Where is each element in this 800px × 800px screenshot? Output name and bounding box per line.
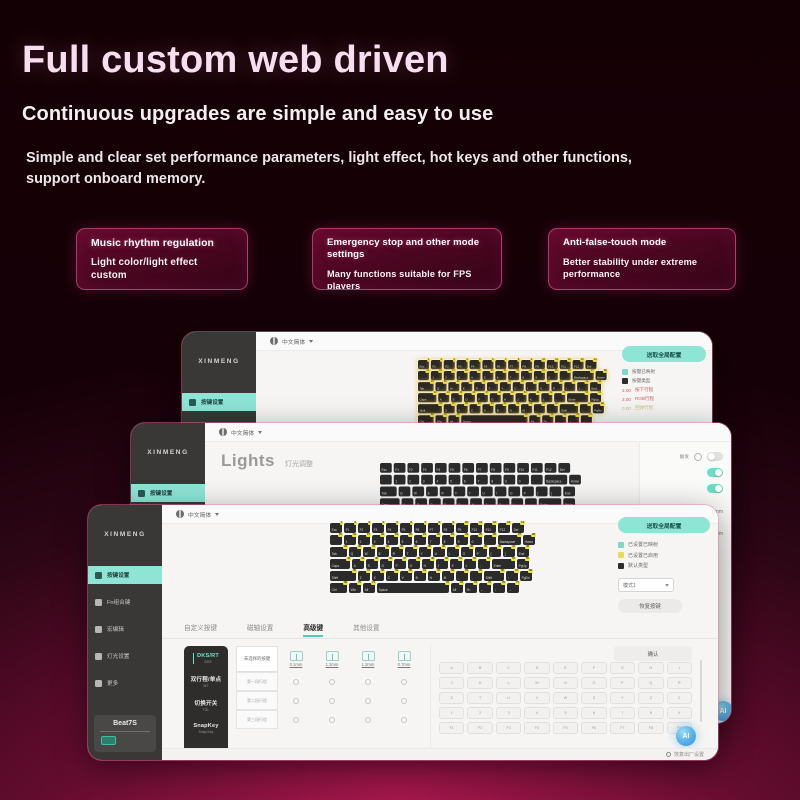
key-grid-item[interactable]: F2 bbox=[467, 722, 492, 734]
table-column-header[interactable]: 0.7mm bbox=[386, 651, 422, 667]
keycap[interactable]: Space72 bbox=[377, 583, 449, 593]
keycap[interactable]: X58 bbox=[457, 404, 468, 413]
keycap[interactable]: 419 bbox=[470, 371, 481, 380]
key-grid-item[interactable]: U bbox=[496, 692, 521, 704]
keycap[interactable]: F6 bbox=[462, 463, 474, 473]
keycap[interactable]: →77 bbox=[507, 583, 519, 593]
sidebar-item-key-settings[interactable]: 按键设置 bbox=[131, 484, 205, 502]
keycap[interactable]: U bbox=[481, 487, 493, 497]
key-grid-item[interactable]: F8 bbox=[638, 722, 663, 734]
keycap[interactable]: F11 bbox=[531, 463, 543, 473]
keycap[interactable]: F10 bbox=[517, 463, 529, 473]
radio-icon bbox=[293, 679, 299, 685]
factory-reset-label[interactable]: 恢复出厂设置 bbox=[674, 751, 704, 758]
keycap-badge: 49 bbox=[510, 391, 514, 395]
chevron-down-icon[interactable] bbox=[258, 431, 262, 434]
keycap[interactable]: E32 bbox=[377, 547, 389, 557]
keycap[interactable]: R bbox=[440, 487, 452, 497]
keycap[interactable]: B61 bbox=[495, 404, 506, 413]
key-grid-item[interactable]: H bbox=[638, 662, 663, 674]
keycap[interactable]: F45 bbox=[470, 360, 481, 369]
keycap[interactable]: 8 bbox=[490, 475, 502, 485]
key-grid-item[interactable]: F1 bbox=[439, 722, 464, 734]
keycap[interactable]: ]41 bbox=[503, 547, 515, 557]
keycap[interactable]: W31 bbox=[448, 382, 459, 391]
keycap[interactable]: ↓76 bbox=[493, 583, 505, 593]
keycap[interactable]: U36 bbox=[513, 382, 524, 391]
key-grid-item[interactable]: G bbox=[610, 662, 635, 674]
keycap[interactable]: F7 bbox=[476, 463, 488, 473]
keycap[interactable]: ,64 bbox=[456, 571, 468, 581]
keycap[interactable]: Z57 bbox=[444, 404, 455, 413]
mode-select[interactable]: 模式1 bbox=[618, 578, 674, 592]
keycap[interactable]: L52 bbox=[464, 559, 476, 569]
keycap[interactable]: Caps43 bbox=[330, 559, 350, 569]
mode-item-snapkey[interactable]: SnapKey Snap Key bbox=[193, 723, 218, 734]
keycap[interactable]: Caps43 bbox=[418, 393, 436, 402]
toggle-row[interactable] bbox=[648, 468, 723, 477]
keycap[interactable]: Esc1 bbox=[418, 360, 429, 369]
keycap-label: End bbox=[519, 552, 525, 556]
keycap[interactable]: M63 bbox=[521, 404, 532, 413]
key-grid-item[interactable]: A bbox=[439, 662, 464, 674]
keycap[interactable]: 217 bbox=[358, 535, 370, 545]
keycap[interactable]: F12 bbox=[344, 523, 356, 533]
keycap[interactable]: ↑67 bbox=[506, 571, 518, 581]
keycap[interactable]: Alt73 bbox=[451, 583, 463, 593]
key-grid-item[interactable]: B bbox=[467, 662, 492, 674]
keycap[interactable]: C59 bbox=[386, 571, 398, 581]
keycap[interactable]: Win70 bbox=[349, 583, 361, 593]
key-grid-item[interactable]: F6 bbox=[581, 722, 606, 734]
keycap[interactable]: V60 bbox=[482, 404, 493, 413]
keycap[interactable]: 1 bbox=[394, 475, 406, 485]
keycap[interactable]: F78 bbox=[428, 523, 440, 533]
keycap[interactable]: 116 bbox=[344, 535, 356, 545]
radio-cell[interactable] bbox=[278, 710, 314, 729]
keycap[interactable]: A44 bbox=[352, 559, 364, 569]
keycap[interactable]: Alt71 bbox=[363, 583, 375, 593]
scrollbar[interactable] bbox=[700, 660, 703, 722]
keycap[interactable]: 924 bbox=[456, 535, 468, 545]
key-grid-item[interactable]: L bbox=[496, 677, 521, 689]
key-grid-item[interactable]: S bbox=[439, 692, 464, 704]
keycap[interactable]: PgUp55 bbox=[590, 393, 601, 402]
key-grid-item[interactable]: D bbox=[524, 662, 549, 674]
keycap[interactable]: Enter54 bbox=[567, 393, 588, 402]
keycap[interactable]: F910 bbox=[534, 360, 545, 369]
key-grid-item[interactable]: 0 bbox=[667, 692, 692, 704]
key-grid-item[interactable]: 6 bbox=[581, 707, 606, 719]
sidebar-item-key-settings[interactable]: 按键设置 bbox=[182, 393, 256, 411]
keycap-badge: 20 bbox=[408, 533, 413, 537]
key-grid-item[interactable]: 5 bbox=[553, 707, 578, 719]
keycap[interactable]: F23 bbox=[444, 360, 455, 369]
key-grid-item[interactable]: F4 bbox=[524, 722, 549, 734]
keycap[interactable]: 025 bbox=[470, 535, 482, 545]
keycap-badge: 29 bbox=[343, 545, 348, 549]
keycap-label: T bbox=[488, 387, 490, 391]
radio-cell[interactable] bbox=[350, 672, 386, 691]
keycap[interactable]: F56 bbox=[400, 523, 412, 533]
keycap[interactable]: Y35 bbox=[419, 547, 431, 557]
sidebar-item-key-settings[interactable]: 按键设置 bbox=[88, 566, 162, 584]
keycap[interactable]: 025 bbox=[547, 371, 558, 380]
keycap[interactable]: F2 bbox=[407, 463, 419, 473]
keyboard-map-back[interactable]: Esc1F12F23F34F45F56F67F78F89F910F1011F11… bbox=[418, 360, 607, 424]
keycap[interactable]: C59 bbox=[470, 404, 481, 413]
keycap[interactable]: Tab bbox=[380, 487, 397, 497]
keycap[interactable]: H49 bbox=[422, 559, 434, 569]
radio-cell[interactable] bbox=[278, 691, 314, 710]
keycap[interactable]: R33 bbox=[474, 382, 485, 391]
keycap[interactable]: A44 bbox=[438, 393, 449, 402]
keycap[interactable]: Home bbox=[569, 475, 581, 485]
keycap[interactable]: R33 bbox=[391, 547, 403, 557]
keycap[interactable]: 823 bbox=[442, 535, 454, 545]
feature-card-title: Music rhythm regulation bbox=[91, 237, 235, 250]
keycap-badge: 17 bbox=[366, 533, 371, 537]
keycap[interactable]: Y bbox=[467, 487, 479, 497]
keycap[interactable]: O38 bbox=[539, 382, 550, 391]
keycap[interactable]: T34 bbox=[405, 547, 417, 557]
sidebar-item-lighting[interactable]: 灯光设置 bbox=[88, 647, 162, 665]
keycap[interactable]: Q30 bbox=[435, 382, 446, 391]
keycap[interactable]: T bbox=[454, 487, 466, 497]
key-grid-item[interactable]: O bbox=[581, 677, 606, 689]
toggle-switch[interactable] bbox=[707, 484, 723, 493]
keycap[interactable]: -26 bbox=[560, 371, 571, 380]
keycap[interactable]: Backspace27 bbox=[498, 535, 521, 545]
keycap[interactable]: Shift56 bbox=[330, 571, 356, 581]
key-grid-item[interactable]: Y bbox=[610, 692, 635, 704]
keycap[interactable]: PgUp55 bbox=[517, 559, 529, 569]
keycap[interactable]: N62 bbox=[428, 571, 440, 581]
keycap[interactable]: PgDn68 bbox=[520, 571, 532, 581]
keycap[interactable]: B61 bbox=[414, 571, 426, 581]
tab-other-settings[interactable]: 其他设置 bbox=[353, 622, 379, 636]
keycap[interactable]: P39 bbox=[475, 547, 487, 557]
keycap[interactable]: .65 bbox=[470, 571, 482, 581]
keycap[interactable]: [40 bbox=[489, 547, 501, 557]
keycap[interactable]: F47 bbox=[394, 559, 406, 569]
keycap[interactable]: PgDn68 bbox=[593, 404, 604, 413]
keycap[interactable]: Shift66 bbox=[484, 571, 504, 581]
keycap[interactable]: ,64 bbox=[534, 404, 545, 413]
keycap[interactable]: H49 bbox=[503, 393, 514, 402]
keycap[interactable]: ↑67 bbox=[580, 404, 591, 413]
keycap[interactable]: F12 bbox=[545, 463, 557, 473]
keycap[interactable]: F4 bbox=[435, 463, 447, 473]
key-grid-item[interactable]: F5 bbox=[553, 722, 578, 734]
keycap[interactable]: D46 bbox=[464, 393, 475, 402]
app-window-front[interactable]: XINMENG 按键设置 Fn组合键 宏编辑 灯光设置 更多 bbox=[88, 505, 718, 760]
keycap[interactable]: Z57 bbox=[358, 571, 370, 581]
keycap[interactable]: I37 bbox=[526, 382, 537, 391]
keycap[interactable]: F9 bbox=[503, 463, 515, 473]
keycap[interactable]: - bbox=[531, 475, 543, 485]
radio-cell[interactable] bbox=[386, 672, 422, 691]
key-grid-item[interactable]: X bbox=[581, 692, 606, 704]
keycap[interactable]: ;53 bbox=[478, 559, 490, 569]
keycap[interactable]: [ bbox=[536, 487, 548, 497]
keycap[interactable]: L52 bbox=[541, 393, 552, 402]
keycap[interactable]: End42 bbox=[590, 382, 601, 391]
keycap[interactable]: K51 bbox=[528, 393, 539, 402]
keycap[interactable]: F67 bbox=[414, 523, 426, 533]
keycap[interactable]: `15 bbox=[418, 371, 429, 380]
fetch-global-config-button[interactable]: 送取全局配置 bbox=[618, 517, 710, 533]
keycap[interactable]: X58 bbox=[372, 571, 384, 581]
keycap[interactable]: ]41 bbox=[577, 382, 588, 391]
keycap[interactable]: F1213 bbox=[573, 360, 584, 369]
keycap[interactable]: 318 bbox=[457, 371, 468, 380]
keycap[interactable]: Shift66 bbox=[560, 404, 578, 413]
sidebar-item-more[interactable]: 更多 bbox=[88, 674, 162, 692]
keycap[interactable]: 6 bbox=[462, 475, 474, 485]
keycap[interactable]: 2 bbox=[407, 475, 419, 485]
keycap-badge: 27 bbox=[517, 533, 522, 537]
keycap[interactable]: F67 bbox=[495, 360, 506, 369]
key-grid-item[interactable]: R bbox=[667, 677, 692, 689]
keycap[interactable]: P39 bbox=[551, 382, 562, 391]
key-grid-item[interactable]: N bbox=[553, 677, 578, 689]
keycap[interactable]: 116 bbox=[431, 371, 442, 380]
key-grid-item[interactable]: I bbox=[667, 662, 692, 674]
keycap[interactable]: P bbox=[522, 487, 534, 497]
keycap[interactable]: U36 bbox=[433, 547, 445, 557]
keycap[interactable]: Tab29 bbox=[330, 547, 347, 557]
key-grid-item[interactable]: F3 bbox=[496, 722, 521, 734]
keycap[interactable]: Esc bbox=[380, 463, 392, 473]
keycap[interactable]: 520 bbox=[482, 371, 493, 380]
keycap[interactable]: 217 bbox=[444, 371, 455, 380]
keycap[interactable]: 419 bbox=[386, 535, 398, 545]
sidebar-item-fn-combo[interactable]: Fn组合键 bbox=[88, 593, 162, 611]
keycap[interactable]: 621 bbox=[495, 371, 506, 380]
keycap-label: Y bbox=[421, 552, 423, 556]
keycap[interactable]: F3 bbox=[421, 463, 433, 473]
key-grid-item[interactable]: K bbox=[467, 677, 492, 689]
toggle-row[interactable] bbox=[648, 484, 723, 493]
keycap[interactable]: O bbox=[508, 487, 520, 497]
toggle-switch[interactable] bbox=[707, 452, 723, 461]
key-grid[interactable]: ABCDEFGHIJKLMNOPQRSTUVWXYZ0123456789F1F2… bbox=[439, 662, 692, 734]
key-grid-item[interactable]: P bbox=[610, 677, 635, 689]
radio-cell[interactable] bbox=[386, 710, 422, 729]
key-grid-item[interactable]: 8 bbox=[638, 707, 663, 719]
keycap[interactable]: F78 bbox=[508, 360, 519, 369]
keycap[interactable]: F89 bbox=[442, 523, 454, 533]
keycap[interactable]: 924 bbox=[534, 371, 545, 380]
keycap[interactable]: F47 bbox=[477, 393, 488, 402]
sidebar-item-macro[interactable]: 宏编辑 bbox=[88, 620, 162, 638]
keycap-badge: 50 bbox=[444, 557, 449, 561]
mode-item-toggle[interactable]: 切换开关 TGL bbox=[194, 699, 217, 712]
keycap[interactable]: Home28 bbox=[596, 371, 607, 380]
toggle-row[interactable]: 触发 bbox=[648, 452, 723, 461]
keycap[interactable]: -26 bbox=[484, 535, 496, 545]
key-grid-item[interactable]: T bbox=[467, 692, 492, 704]
keycap[interactable]: F5 bbox=[449, 463, 461, 473]
keycap[interactable]: E bbox=[426, 487, 438, 497]
radio-cell[interactable] bbox=[350, 710, 386, 729]
keycap[interactable]: [40 bbox=[564, 382, 575, 391]
radio-cell[interactable] bbox=[314, 691, 350, 710]
keycap[interactable]: G48 bbox=[408, 559, 420, 569]
keycap[interactable]: 9 bbox=[503, 475, 515, 485]
keycap[interactable]: N62 bbox=[508, 404, 519, 413]
key-grid-item[interactable]: F7 bbox=[610, 722, 635, 734]
keycap[interactable]: Backspace27 bbox=[573, 371, 594, 380]
table-column-header[interactable]: 1.2mm bbox=[350, 651, 386, 667]
keycap[interactable]: F45 bbox=[386, 523, 398, 533]
table-column-header[interactable]: 0.1mm bbox=[278, 651, 314, 667]
keycap[interactable]: End42 bbox=[517, 547, 529, 557]
chevron-down-icon[interactable] bbox=[215, 513, 219, 516]
keycap[interactable]: M63 bbox=[442, 571, 454, 581]
keycap[interactable]: Y35 bbox=[500, 382, 511, 391]
keycap[interactable]: End bbox=[563, 487, 575, 497]
key-grid-item[interactable]: 1 bbox=[439, 707, 464, 719]
keycap[interactable]: 318 bbox=[372, 535, 384, 545]
keyboard-map-front[interactable]: Esc1F12F23F34F45F56F67F78F89F910F1011F11… bbox=[330, 523, 535, 593]
toggle-switch[interactable] bbox=[707, 468, 723, 477]
fetch-global-config-button[interactable]: 送取全局配置 bbox=[622, 346, 706, 362]
keycap[interactable]: F1213 bbox=[498, 523, 510, 533]
keycap[interactable]: F1112 bbox=[560, 360, 571, 369]
keycap[interactable]: F34 bbox=[372, 523, 384, 533]
tab-custom-keys[interactable]: 自定义按键 bbox=[184, 622, 217, 636]
keycap[interactable]: Ctrl69 bbox=[330, 583, 347, 593]
keycap[interactable]: Del14 bbox=[512, 523, 524, 533]
confirm-button[interactable]: 确认 bbox=[614, 646, 692, 661]
keycap[interactable]: F89 bbox=[521, 360, 532, 369]
key-grid-item[interactable]: Z bbox=[638, 692, 663, 704]
radio-cell[interactable] bbox=[314, 672, 350, 691]
keycap[interactable]: 823 bbox=[521, 371, 532, 380]
keycap[interactable]: I37 bbox=[447, 547, 459, 557]
keycap[interactable]: F12 bbox=[431, 360, 442, 369]
keycap[interactable]: Del14 bbox=[585, 360, 596, 369]
keycap[interactable]: E32 bbox=[461, 382, 472, 391]
keycap[interactable]: J50 bbox=[436, 559, 448, 569]
key-grid-item[interactable]: 9 bbox=[667, 707, 692, 719]
radio-cell[interactable] bbox=[350, 691, 386, 710]
keycap[interactable]: Esc1 bbox=[330, 523, 342, 533]
key-grid-item[interactable]: 7 bbox=[610, 707, 635, 719]
mode-item-dks[interactable]: DKS/RT DKS bbox=[193, 653, 219, 664]
keycap[interactable]: J50 bbox=[516, 393, 527, 402]
keycap[interactable]: V60 bbox=[400, 571, 412, 581]
keycap[interactable]: Home28 bbox=[523, 535, 535, 545]
keycap[interactable]: 722 bbox=[508, 371, 519, 380]
restore-keys-button[interactable]: 恢复按键 bbox=[618, 599, 682, 613]
keycap[interactable]: Backspace bbox=[545, 475, 568, 485]
keycap[interactable]: D46 bbox=[380, 559, 392, 569]
keycap[interactable]: O38 bbox=[461, 547, 473, 557]
mode-item-mt[interactable]: 双行程/单点 MT bbox=[191, 675, 222, 688]
key-grid-item[interactable]: 4 bbox=[524, 707, 549, 719]
keycap[interactable]: F1011 bbox=[547, 360, 558, 369]
keycap[interactable]: T34 bbox=[487, 382, 498, 391]
keycap[interactable]: 5 bbox=[449, 475, 461, 485]
keycap-label: B bbox=[497, 409, 499, 413]
device-card[interactable]: Beat7S bbox=[94, 715, 156, 752]
keycap-badge: 73 bbox=[459, 581, 464, 585]
keycap[interactable]: ` bbox=[380, 475, 392, 485]
keycap[interactable]: ] bbox=[550, 487, 562, 497]
keycap[interactable]: I bbox=[495, 487, 507, 497]
key-grid-item[interactable]: J bbox=[439, 677, 464, 689]
ai-assistant-button[interactable]: AI bbox=[676, 726, 696, 746]
keycap[interactable]: Q30 bbox=[349, 547, 361, 557]
keycap[interactable]: 621 bbox=[414, 535, 426, 545]
tab-magnetic-settings[interactable]: 磁轴设置 bbox=[247, 622, 273, 636]
keycap-label: O bbox=[540, 387, 542, 391]
keycap[interactable]: ;53 bbox=[554, 393, 565, 402]
keycap[interactable]: Enter54 bbox=[492, 559, 515, 569]
keycap-badge: 30 bbox=[443, 380, 447, 384]
keycap[interactable]: Del bbox=[558, 463, 570, 473]
keycap[interactable]: W31 bbox=[363, 547, 375, 557]
keycap[interactable]: W bbox=[412, 487, 424, 497]
keycap[interactable]: 722 bbox=[428, 535, 440, 545]
key-grid-item[interactable]: W bbox=[553, 692, 578, 704]
keycap[interactable]: K51 bbox=[450, 559, 462, 569]
keycap[interactable]: G48 bbox=[490, 393, 501, 402]
keycap[interactable]: Tab29 bbox=[418, 382, 434, 391]
key-grid-item[interactable]: 2 bbox=[467, 707, 492, 719]
keycap[interactable]: 7 bbox=[476, 475, 488, 485]
keyboard-row: Shift56Z57X58C59V60B61N62M63,64.65Shift6… bbox=[418, 404, 607, 413]
chevron-down-icon[interactable] bbox=[309, 340, 313, 343]
key-grid-item[interactable]: E bbox=[553, 662, 578, 674]
tab-advanced-keys[interactable]: 高级键 bbox=[303, 622, 323, 636]
keycap[interactable]: 520 bbox=[400, 535, 412, 545]
keycap[interactable]: Fn74 bbox=[465, 583, 477, 593]
keycap[interactable]: S45 bbox=[366, 559, 378, 569]
key-grid-item[interactable]: V bbox=[524, 692, 549, 704]
keycap[interactable]: S45 bbox=[451, 393, 462, 402]
keycap[interactable]: 3 bbox=[421, 475, 433, 485]
keycap[interactable]: F910 bbox=[456, 523, 468, 533]
key-grid-item[interactable]: Q bbox=[638, 677, 663, 689]
keycap[interactable]: 0 bbox=[517, 475, 529, 485]
keycap[interactable]: F23 bbox=[358, 523, 370, 533]
radio-cell[interactable] bbox=[278, 672, 314, 691]
keycap[interactable]: F1 bbox=[394, 463, 406, 473]
keycap[interactable]: 4 bbox=[435, 475, 447, 485]
key-grid-item[interactable]: F bbox=[581, 662, 606, 674]
table-column-header[interactable]: 1.2mm bbox=[314, 651, 350, 667]
keycap[interactable]: F1011 bbox=[470, 523, 482, 533]
keycap[interactable]: F34 bbox=[457, 360, 468, 369]
key-grid-item[interactable]: C bbox=[496, 662, 521, 674]
keycap[interactable]: F1112 bbox=[484, 523, 496, 533]
keycap[interactable]: F8 bbox=[490, 463, 502, 473]
keycap[interactable]: `15 bbox=[330, 535, 342, 545]
keycap[interactable]: ←75 bbox=[479, 583, 491, 593]
keycap[interactable]: Shift56 bbox=[418, 404, 442, 413]
keycap[interactable]: F56 bbox=[482, 360, 493, 369]
keycap[interactable]: .65 bbox=[547, 404, 558, 413]
radio-cell[interactable] bbox=[314, 710, 350, 729]
radio-cell[interactable] bbox=[386, 691, 422, 710]
key-grid-item[interactable]: 3 bbox=[496, 707, 521, 719]
key-grid-item[interactable]: M bbox=[524, 677, 549, 689]
keycap[interactable]: Q bbox=[399, 487, 411, 497]
